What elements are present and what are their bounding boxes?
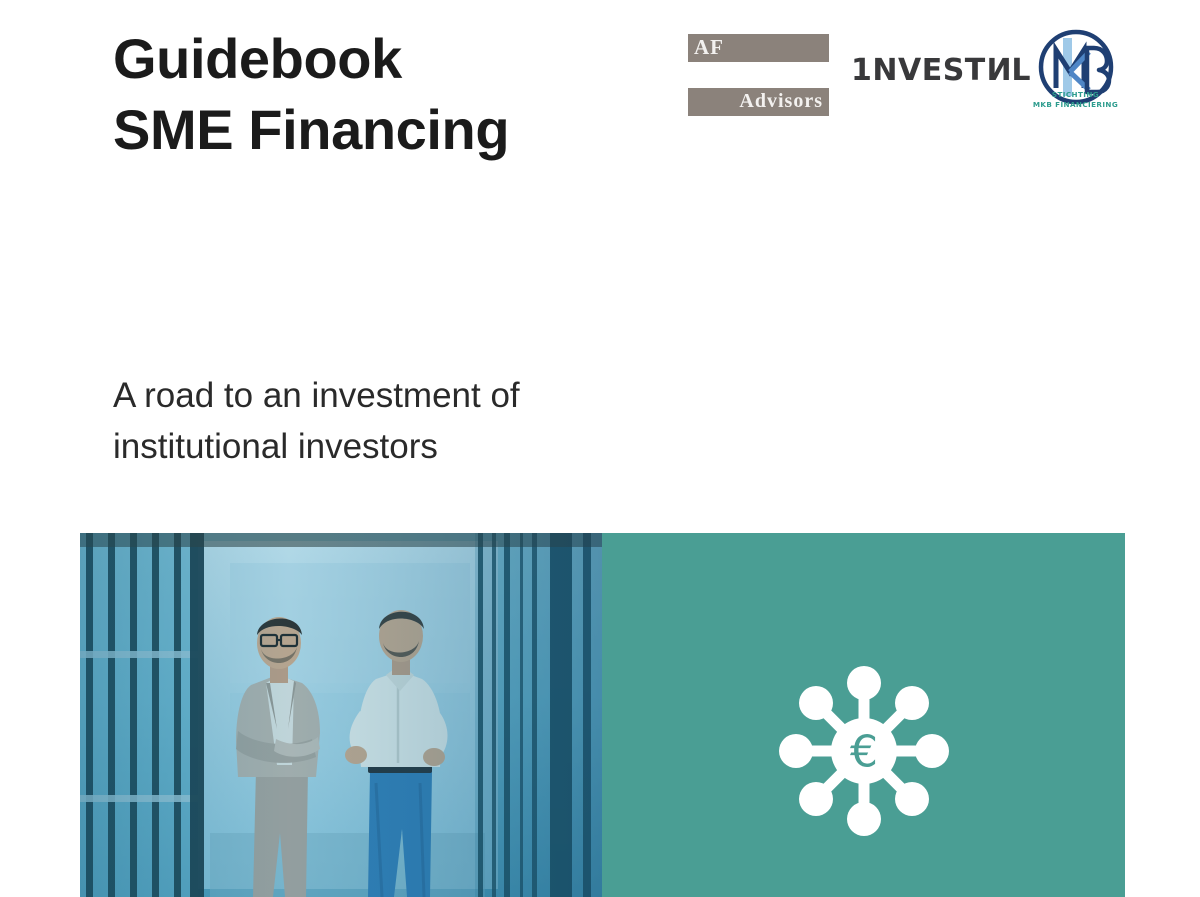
mkb-financiering-logo: STICHTING MKB FINANCIERING — [1013, 28, 1138, 126]
euro-symbol: € — [850, 727, 878, 778]
af-advisors-line2: Advisors — [739, 90, 823, 113]
page-title: Guidebook SME Financing — [113, 24, 673, 165]
office-corridor-illustration — [80, 533, 602, 897]
af-advisors-logo: AF Advisors — [688, 34, 829, 116]
invest-nl-logo: 1NVESTNL — [851, 56, 1031, 86]
af-advisors-line1: AF — [694, 35, 724, 60]
euro-network-icon: € — [776, 663, 952, 839]
hero-teal-panel: € — [602, 533, 1125, 897]
hero-band: € — [80, 533, 1125, 897]
cover-page: Guidebook SME Financing AF Advisors 1NVE… — [0, 0, 1200, 897]
hero-photo — [80, 533, 602, 897]
invest-nl-part1: 1 — [851, 56, 872, 86]
invest-nl-part3: N — [986, 56, 1012, 86]
af-advisors-bar-top: AF — [688, 34, 829, 62]
invest-nl-part2: NVEST — [872, 53, 985, 88]
logo-strip: AF Advisors 1NVESTNL STICHTING MKB FINAN… — [688, 28, 1138, 124]
af-advisors-bar-bottom: Advisors — [688, 88, 829, 116]
mkb-logo-caption: STICHTING MKB FINANCIERING — [1013, 90, 1138, 111]
page-subtitle: A road to an investment of institutional… — [113, 370, 733, 473]
